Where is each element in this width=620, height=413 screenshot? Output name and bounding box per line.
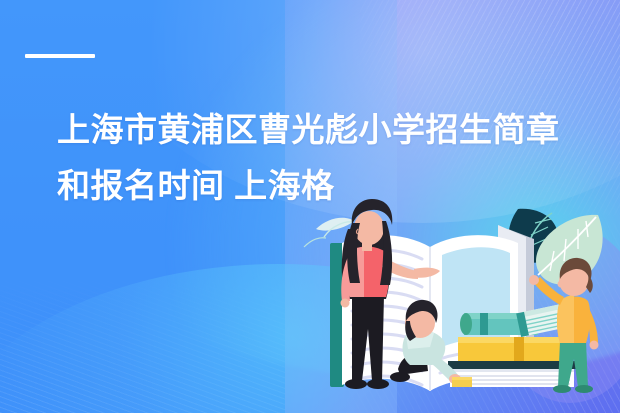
- accent-rule: [25, 54, 95, 58]
- promo-banner: 上海市黄浦区曹光彪小学招生简章和报名时间 上海格: [0, 0, 620, 413]
- illustration-woman-reading: [302, 195, 620, 413]
